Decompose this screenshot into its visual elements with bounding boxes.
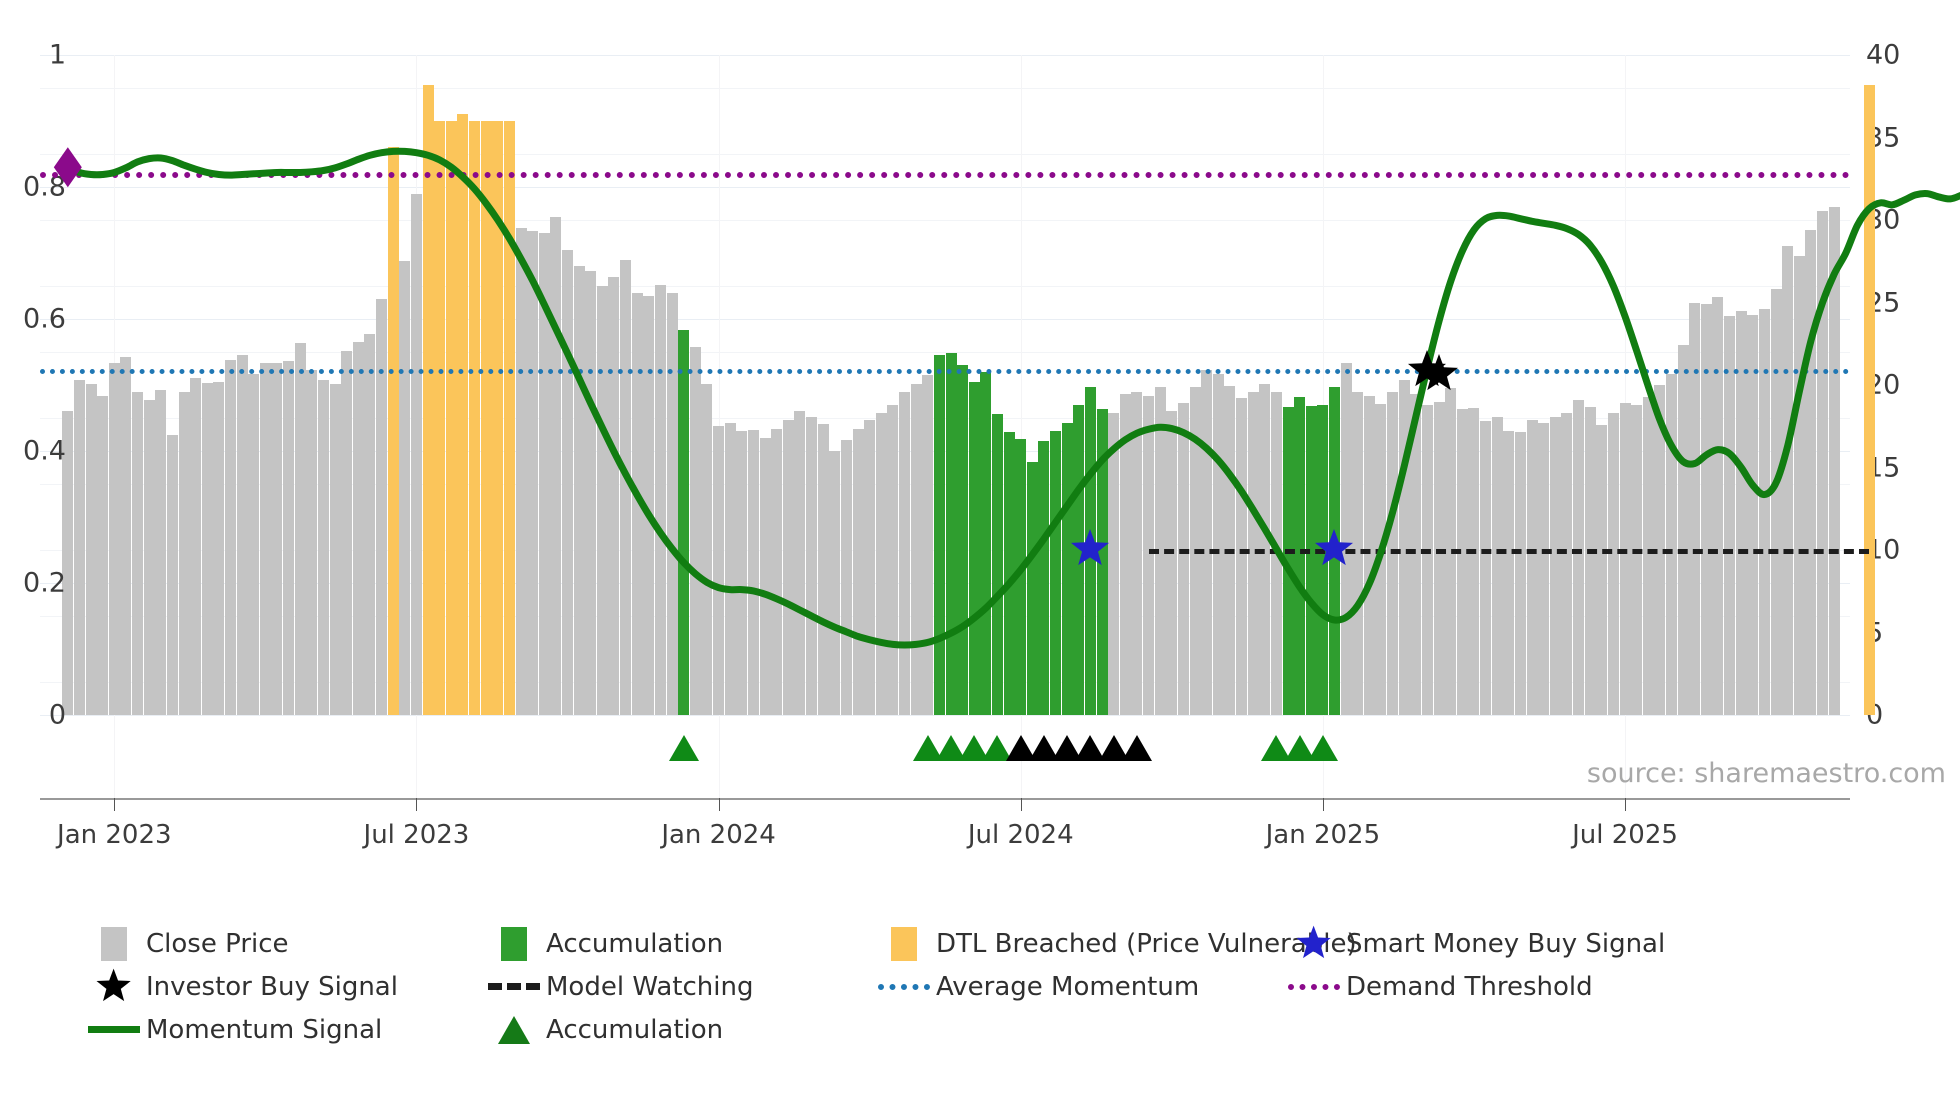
- investor-buy-signal-star: [1415, 350, 1463, 398]
- right-axis-tick-label: 40: [1866, 40, 1900, 71]
- legend-swatch-dotted: [1288, 984, 1340, 990]
- momentum-signal-path: [68, 151, 1960, 645]
- legend-swatch-line: [88, 1026, 140, 1033]
- legend-item-label: Investor Buy Signal: [146, 972, 398, 1002]
- legend-item-label: Momentum Signal: [146, 1015, 382, 1045]
- legend-row: Momentum SignalAccumulation: [82, 1006, 1912, 1049]
- x-axis-tick: [114, 798, 115, 811]
- legend-swatch-square: [101, 927, 127, 961]
- legend-row: Close PriceAccumulationDTL Breached (Pri…: [82, 920, 1912, 963]
- x-axis-tick-label: Jan 2023: [57, 820, 172, 850]
- x-axis-tick: [719, 798, 720, 811]
- chart-page: 00.20.40.60.81 0510152025303540 Jan 2023…: [0, 0, 1960, 1102]
- x-axis-tick: [1625, 798, 1626, 811]
- x-axis-tick-label: Jul 2025: [1572, 820, 1678, 850]
- dtl-breached-bar: [1864, 85, 1875, 715]
- x-axis-tick: [1021, 798, 1022, 811]
- legend-swatch-triangle: [498, 1016, 530, 1044]
- plot-region: 00.20.40.60.81 0510152025303540: [40, 55, 1850, 715]
- accumulation-triangle-marker: [669, 735, 699, 761]
- legend-swatch-dotted: [878, 984, 930, 990]
- legend-item[interactable]: Model Watching: [482, 972, 753, 1002]
- chart-legend: Close PriceAccumulationDTL Breached (Pri…: [82, 920, 1912, 1049]
- legend-item-label: Accumulation: [546, 929, 723, 959]
- legend-item-label: Average Momentum: [936, 972, 1199, 1002]
- legend-item-label: Smart Money Buy Signal: [1346, 929, 1665, 959]
- x-axis-tick: [1323, 798, 1324, 811]
- demand-threshold-start-marker: [54, 147, 82, 187]
- legend-item-label: Accumulation: [546, 1015, 723, 1045]
- legend-item-label: Demand Threshold: [1346, 972, 1593, 1002]
- legend-swatch-star: [1292, 922, 1335, 965]
- x-axis-tick-label: Jan 2024: [661, 820, 776, 850]
- legend-item[interactable]: Demand Threshold: [1282, 972, 1593, 1002]
- smart-money-buy-signal-star: [1310, 525, 1358, 573]
- legend-item[interactable]: Close Price: [82, 927, 289, 961]
- legend-item-label: Close Price: [146, 929, 289, 959]
- legend-item[interactable]: Investor Buy Signal: [82, 967, 398, 1007]
- momentum-signal-line: [40, 55, 1850, 715]
- gridline: [40, 715, 1850, 716]
- accumulation-triangle-marker: [1122, 735, 1152, 761]
- legend-item[interactable]: Accumulation: [482, 927, 723, 961]
- legend-item[interactable]: Accumulation: [482, 1015, 723, 1045]
- smart-money-buy-signal-star: [1066, 525, 1114, 573]
- legend-item[interactable]: Momentum Signal: [82, 1015, 382, 1045]
- legend-item-label: Model Watching: [546, 972, 753, 1002]
- legend-item[interactable]: Smart Money Buy Signal: [1282, 924, 1665, 964]
- x-axis-tick-label: Jul 2024: [968, 820, 1074, 850]
- legend-row: Investor Buy SignalModel WatchingAverage…: [82, 963, 1912, 1006]
- x-axis-tick-label: Jul 2023: [364, 820, 470, 850]
- x-axis-tick: [416, 798, 417, 811]
- legend-swatch-square: [501, 927, 527, 961]
- legend-swatch-square: [891, 927, 917, 961]
- x-axis-tick-label: Jan 2025: [1266, 820, 1381, 850]
- legend-swatch-star: [92, 965, 135, 1008]
- legend-item[interactable]: Average Momentum: [872, 972, 1199, 1002]
- source-attribution: source: sharemaestro.com: [1587, 758, 1946, 789]
- legend-swatch-dashed: [488, 983, 540, 990]
- accumulation-triangle-marker: [1308, 735, 1338, 761]
- x-axis-line: [40, 798, 1850, 800]
